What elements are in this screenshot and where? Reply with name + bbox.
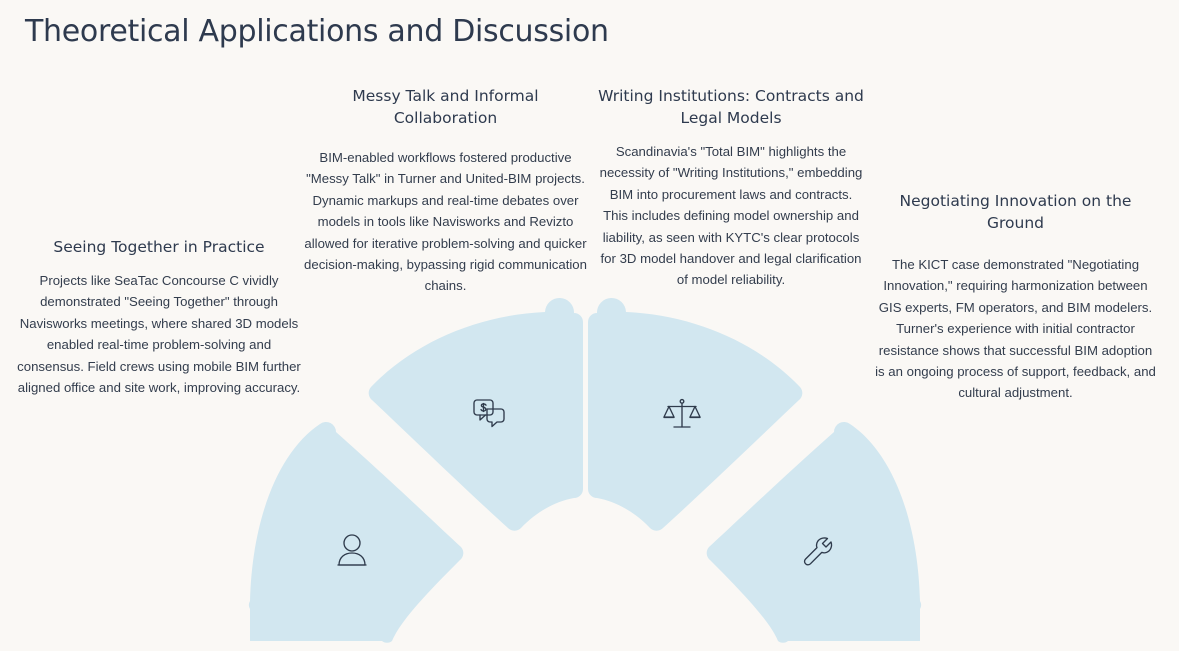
fan-segment-negotiating-innovation[interactable] bbox=[707, 422, 921, 643]
column-body: Scandinavia's "Total BIM" highlights the… bbox=[597, 141, 865, 291]
column-body: The KICT case demonstrated "Negotiating … bbox=[874, 254, 1157, 404]
balance-scales-icon bbox=[664, 400, 700, 427]
column-seeing-together: Seeing Together in Practice Projects lik… bbox=[14, 236, 304, 398]
column-heading: Seeing Together in Practice bbox=[14, 236, 304, 258]
column-heading: Writing Institutions: Contracts and Lega… bbox=[597, 85, 865, 129]
fan-segment-messy-talk[interactable] bbox=[369, 298, 583, 531]
column-heading: Messy Talk and Informal Collaboration bbox=[303, 85, 588, 129]
person-icon bbox=[338, 535, 366, 565]
column-writing-institutions: Writing Institutions: Contracts and Lega… bbox=[597, 85, 865, 291]
column-body: BIM-enabled workflows fostered productiv… bbox=[303, 147, 588, 297]
column-heading: Negotiating Innovation on the Ground bbox=[874, 190, 1157, 234]
fan-segment-writing-institutions[interactable] bbox=[588, 298, 802, 531]
wrench-icon bbox=[805, 538, 832, 565]
column-messy-talk: Messy Talk and Informal Collaboration BI… bbox=[303, 85, 588, 297]
column-negotiating-innovation: Negotiating Innovation on the Ground The… bbox=[874, 190, 1157, 404]
column-body: Projects like SeaTac Concourse C vividly… bbox=[14, 270, 304, 398]
page-title: Theoretical Applications and Discussion bbox=[25, 14, 609, 49]
fan-segment-seeing-together[interactable] bbox=[249, 422, 463, 643]
chat-bubbles-dollar-icon bbox=[474, 400, 504, 427]
